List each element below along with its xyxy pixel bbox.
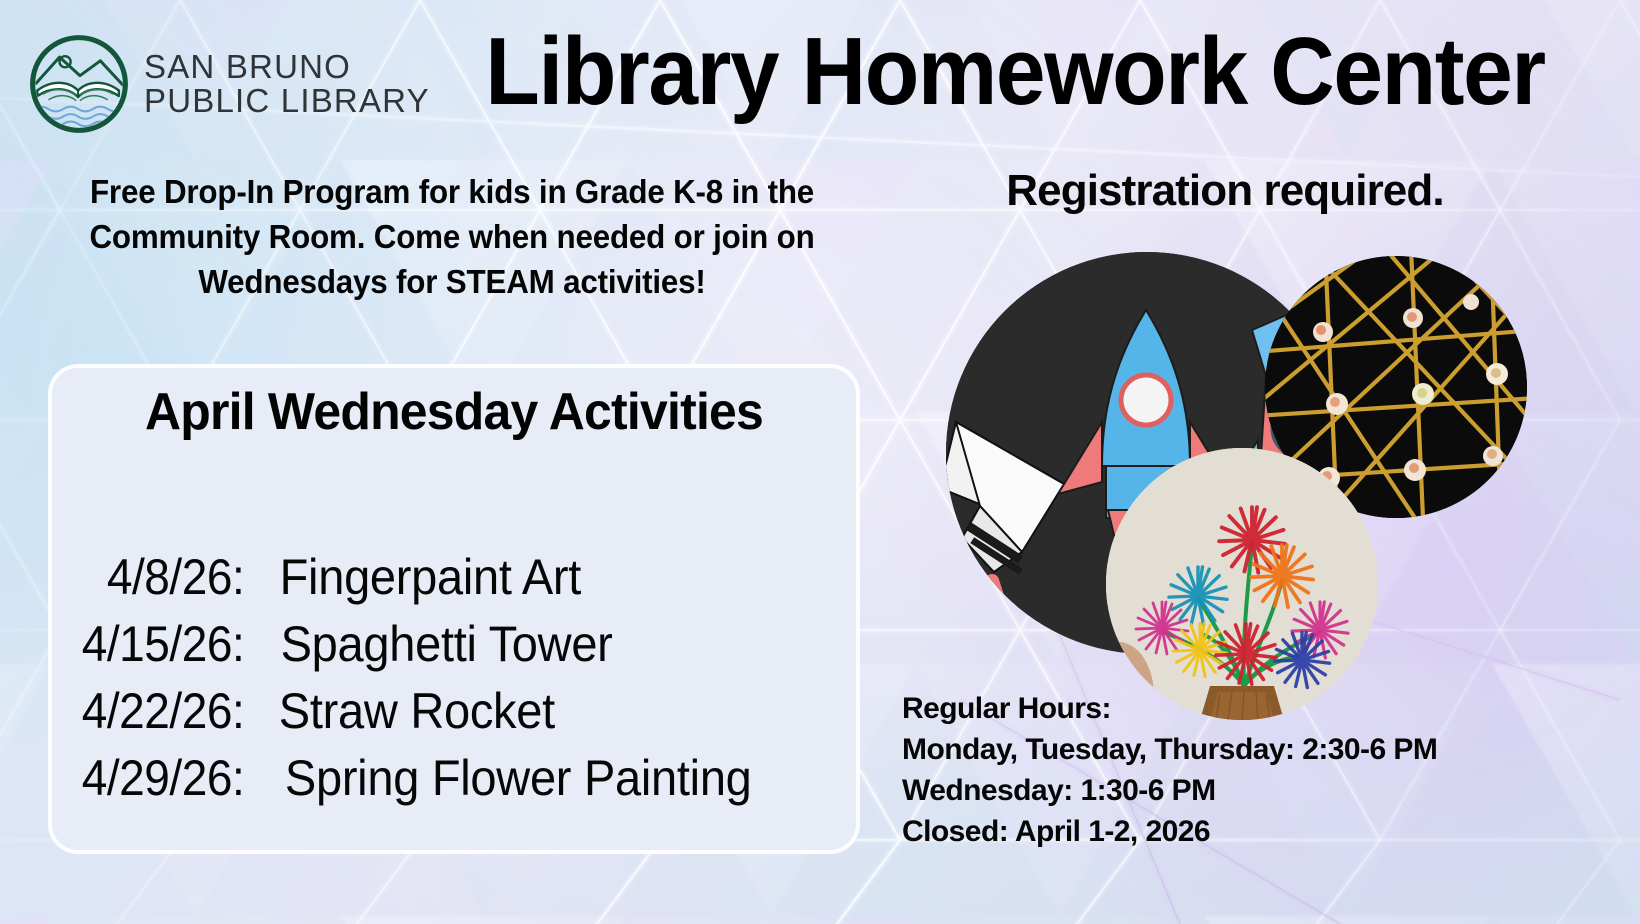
program-description: Free Drop-In Program for kids in Grade K… — [47, 170, 856, 305]
poster-canvas: SAN BRUNO PUBLIC LIBRARY Library Homewor… — [0, 0, 1640, 924]
activity-date: 4/8/26: — [68, 548, 245, 606]
activities-list: 4/8/26: Fingerpaint Art 4/15/26: Spaghet… — [60, 548, 900, 816]
activity-date: 4/22/26: — [68, 682, 245, 740]
hours-heading: Regular Hours: — [902, 688, 1437, 729]
registration-notice: Registration required. — [905, 166, 1545, 216]
activity-name: Spaghetti Tower — [281, 615, 613, 673]
activity-row: 4/15/26: Spaghetti Tower — [60, 615, 900, 682]
san-bruno-library-seal-icon — [28, 33, 130, 135]
activity-row: 4/29/26: Spring Flower Painting — [60, 749, 900, 816]
logo-line-1: SAN BRUNO — [144, 50, 430, 84]
regular-hours-block: Regular Hours: Monday, Tuesday, Thursday… — [902, 688, 1437, 852]
activity-row: 4/8/26: Fingerpaint Art — [60, 548, 900, 615]
activity-name: Fingerpaint Art — [280, 548, 581, 606]
hours-line-closed: Closed: April 1-2, 2026 — [902, 811, 1437, 852]
activity-name: Straw Rocket — [279, 682, 555, 740]
page-title: Library Homework Center — [443, 22, 1587, 123]
activity-date: 4/29/26: — [68, 749, 245, 807]
logo-line-2: PUBLIC LIBRARY — [144, 84, 430, 118]
library-logo: SAN BRUNO PUBLIC LIBRARY — [28, 33, 430, 135]
activities-card-heading: April Wednesday Activities — [68, 382, 840, 442]
activity-row: 4/22/26: Straw Rocket — [60, 682, 900, 749]
activity-date: 4/15/26: — [68, 615, 245, 673]
hours-line-wednesday: Wednesday: 1:30-6 PM — [902, 770, 1437, 811]
hours-line-weekdays: Monday, Tuesday, Thursday: 2:30-6 PM — [902, 729, 1437, 770]
activity-name: Spring Flower Painting — [285, 749, 752, 807]
